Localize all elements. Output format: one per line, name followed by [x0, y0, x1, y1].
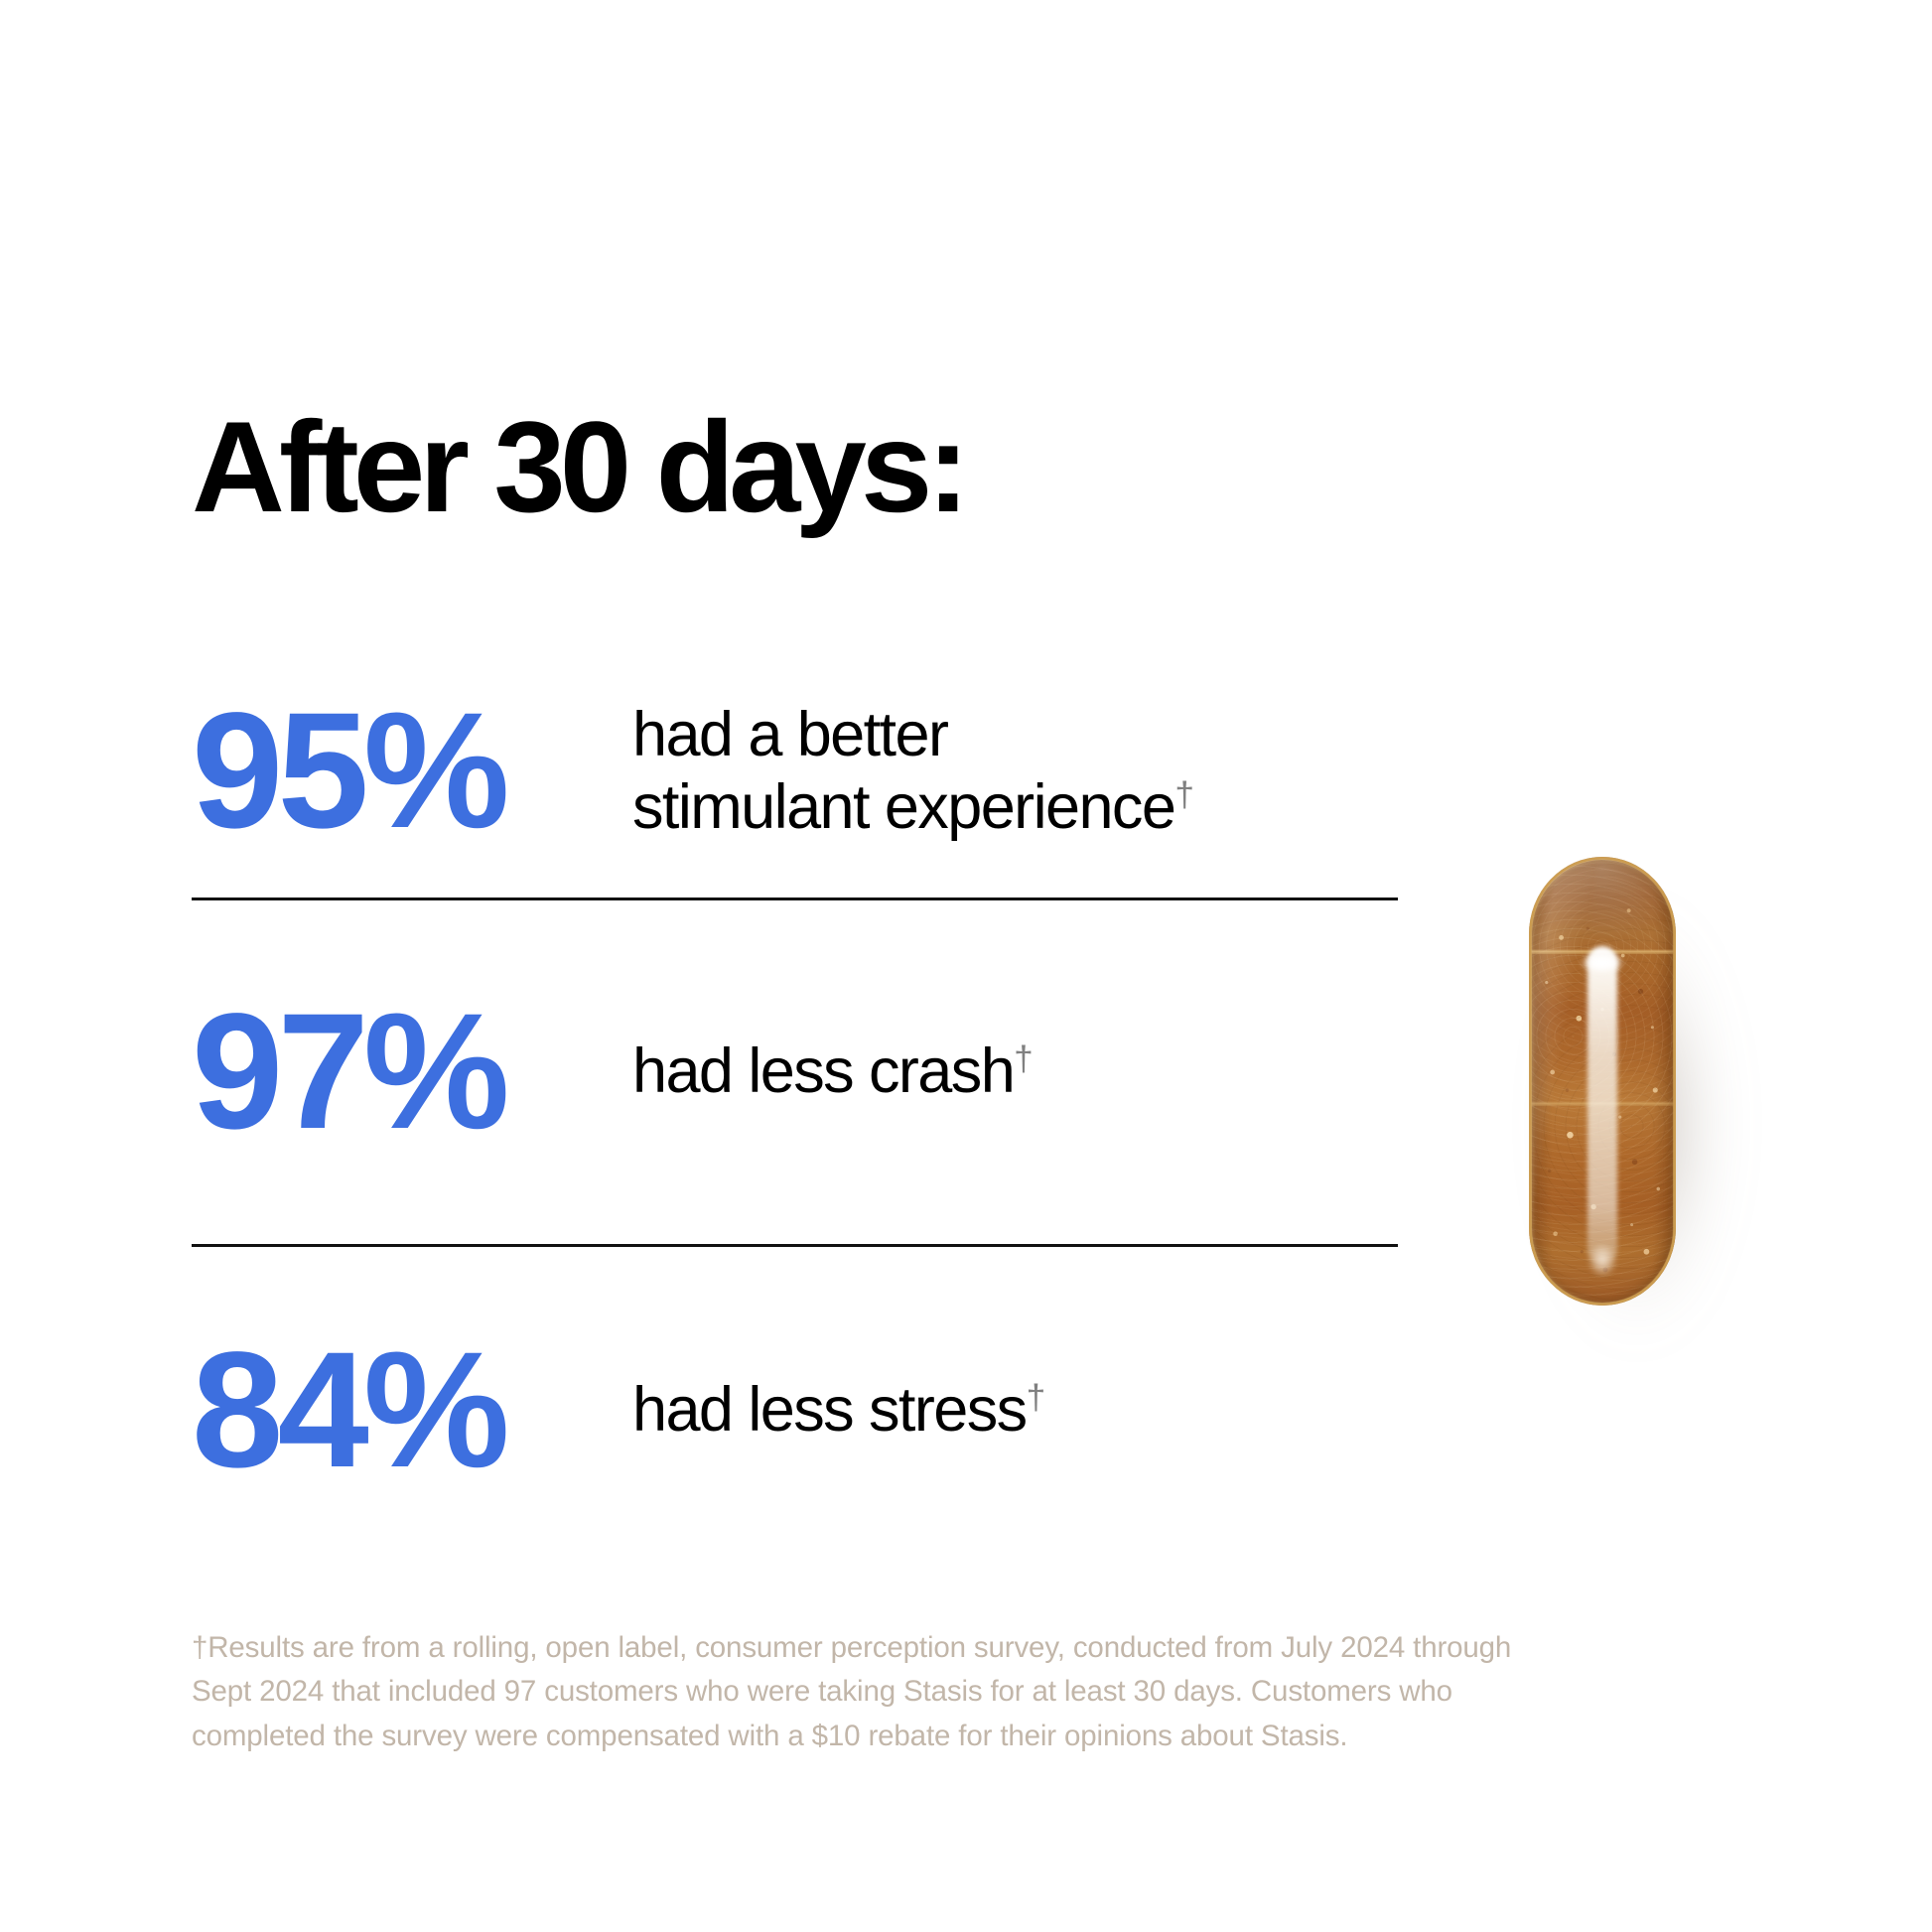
marketing-stat-card: After 30 days: 95% had a better stimulan…: [0, 0, 1932, 1932]
capsule-highlight-foot: [1587, 1243, 1617, 1277]
footnote-dagger-icon: †: [1027, 1378, 1044, 1417]
stat-label-2: had less crash†: [619, 1035, 1398, 1108]
stat-value-3: 84%: [192, 1328, 619, 1493]
stats-list: 95% had a better stimulant experience† 9…: [192, 635, 1398, 1575]
stat-row: 95% had a better stimulant experience†: [192, 635, 1398, 897]
footnote-disclaimer: †Results are from a rolling, open label,…: [192, 1626, 1527, 1759]
capsule-specular-highlight: [1587, 946, 1617, 1265]
footnote-dagger-icon: †: [1174, 775, 1192, 814]
stat-value-2: 97%: [192, 990, 619, 1155]
page-title: After 30 days:: [192, 402, 964, 531]
stat-label-2-line1: had less crash: [632, 1036, 1014, 1106]
stat-label-1-line2: stimulant experience: [632, 772, 1174, 842]
stat-label-3: had less stress†: [619, 1374, 1398, 1447]
stat-label-3-line1: had less stress: [632, 1375, 1027, 1445]
capsule-highlight-cap: [1581, 952, 1624, 978]
stat-value-1: 95%: [192, 689, 619, 854]
product-capsule-image: [1507, 849, 1735, 1325]
stat-label-1-line1: had a better: [632, 700, 947, 769]
footnote-dagger-icon: †: [1014, 1039, 1032, 1078]
capsule-body: [1529, 857, 1676, 1306]
stat-row: 84% had less stress†: [192, 1247, 1398, 1575]
stat-row: 97% had less crash†: [192, 900, 1398, 1244]
stat-label-1: had a better stimulant experience†: [619, 699, 1398, 844]
